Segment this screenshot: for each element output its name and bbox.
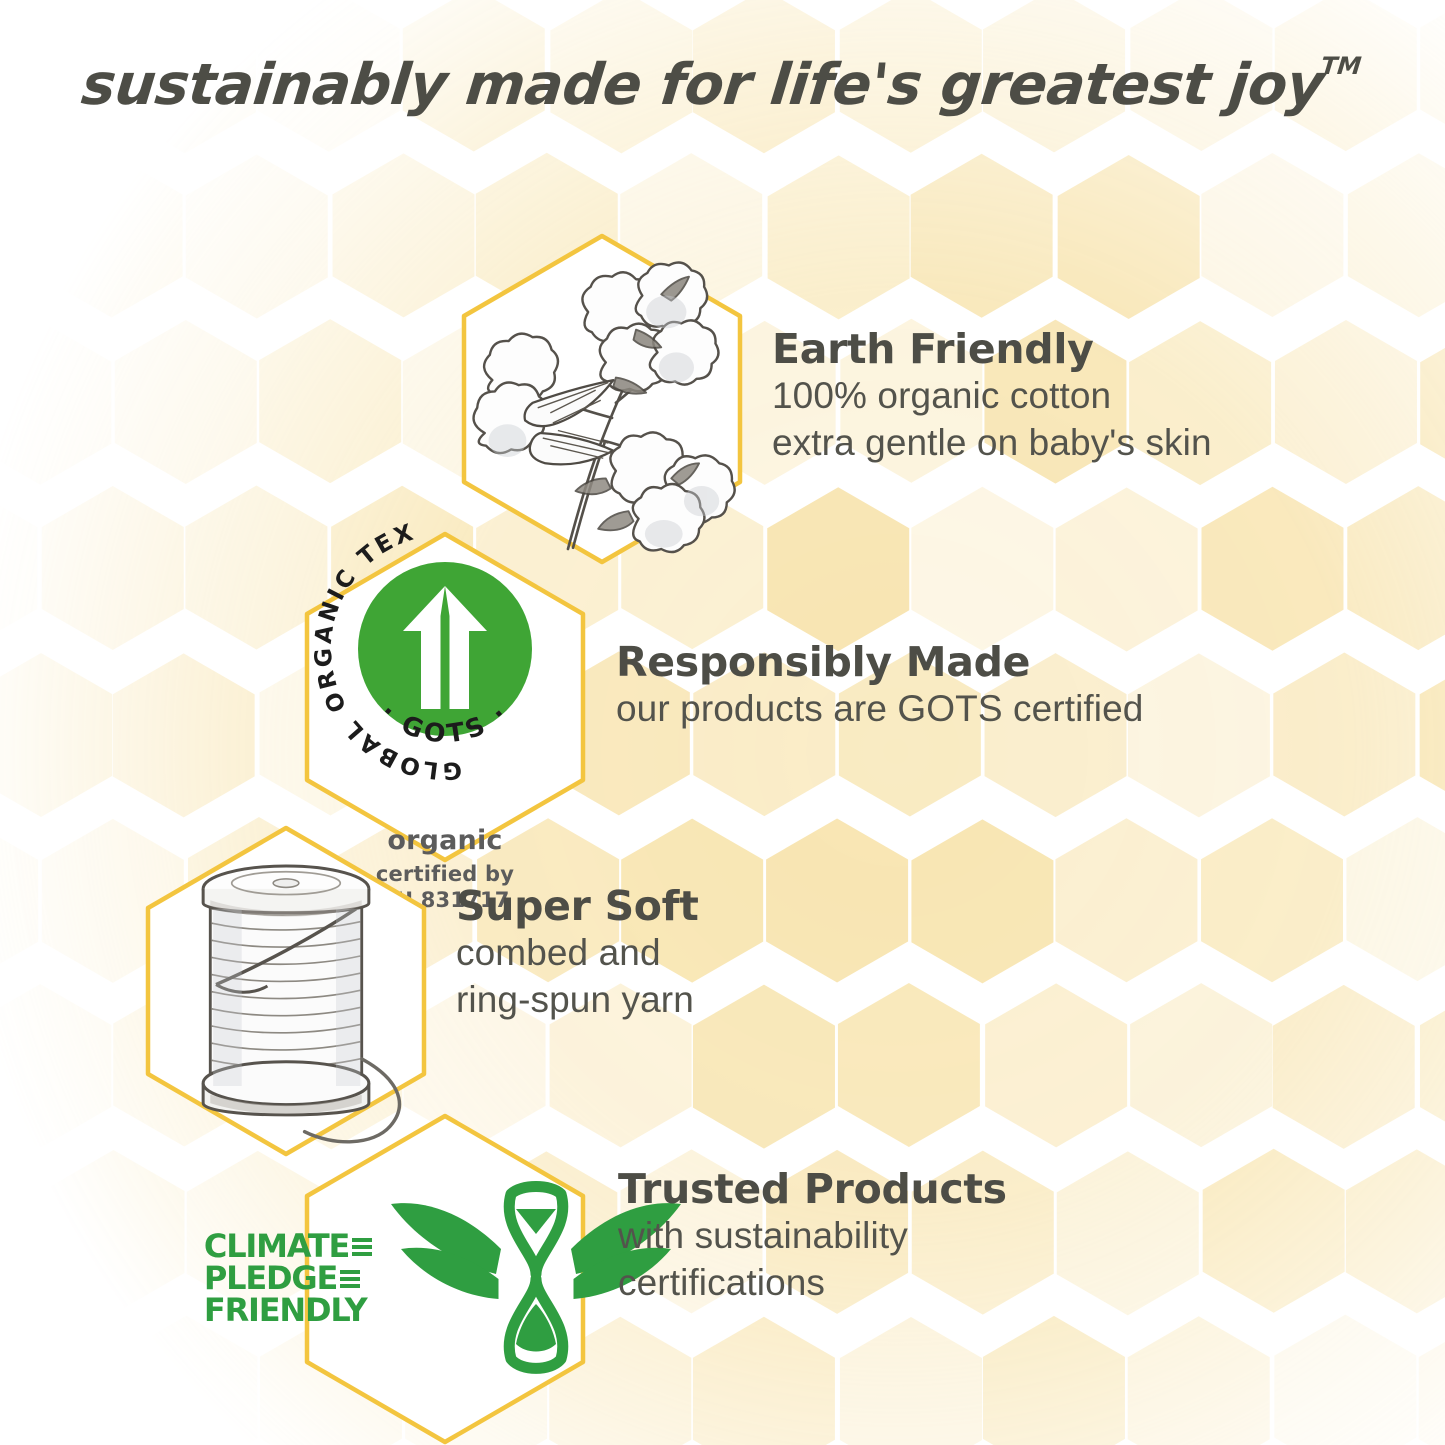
cpf-bars-1 [352, 1238, 372, 1256]
feature-line-2: certifications [618, 1260, 1007, 1307]
hexagon-card-gots: GLOBAL ORGANIC TEXTILE STANDARD · GOTS ·… [295, 528, 595, 866]
feature-title: Super Soft [456, 884, 699, 930]
tagline-text: sustainably made for life's greatest joy [78, 52, 1327, 118]
feature-line-1: with sustainability [618, 1213, 1007, 1260]
cpf-bars-2 [340, 1270, 360, 1288]
feature-title: Responsibly Made [616, 640, 1143, 686]
hexagon-card-climate-pledge: CLIMATE PLEDGE FRIENDLY [295, 1110, 595, 1445]
feature-title: Trusted Products [618, 1167, 1007, 1213]
feature-line-2: extra gentle on baby's skin [772, 420, 1212, 467]
feature-line-1: 100% organic cotton [772, 373, 1212, 420]
feature-line-1: our products are GOTS certified [616, 686, 1143, 733]
feature-line-2: ring-spun yarn [456, 977, 699, 1024]
tagline: sustainably made for life's greatest joy… [0, 52, 1445, 118]
feature-title: Earth Friendly [772, 327, 1212, 373]
promo-graphic: sustainably made for life's greatest joy… [0, 0, 1445, 1445]
trademark-mark: TM [1320, 52, 1363, 80]
climate-pledge-friendly-icon: CLIMATE PLEDGE FRIENDLY [204, 1110, 686, 1445]
cpf-line-3: FRIENDLY [204, 1295, 367, 1327]
feature-line-1: combed and [456, 930, 699, 977]
